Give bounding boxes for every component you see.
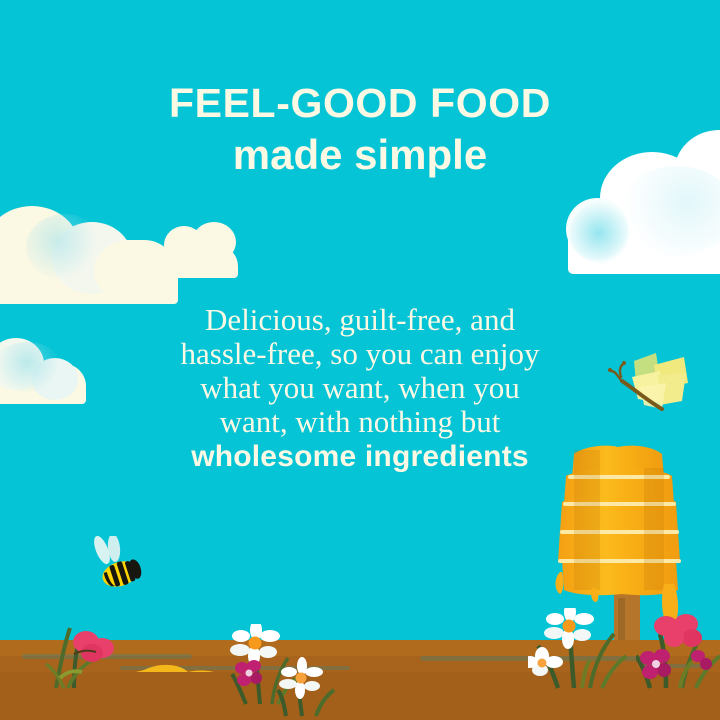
magenta-bud (691, 650, 712, 670)
daisy-mid-right (276, 656, 350, 718)
butterfly-svg (604, 343, 690, 419)
cloud-left-nub (158, 222, 240, 278)
body-copy-block: Delicious, guilt-free, and hassle-free, … (110, 303, 610, 475)
poster-canvas: FEEL-GOOD FOOD made simple Delicious, gu… (0, 0, 720, 720)
bee-icon (88, 536, 150, 594)
bee-svg (88, 536, 150, 594)
headline-line-2: made simple (0, 131, 720, 178)
cloud-puff (94, 240, 166, 302)
daisy-petals (230, 624, 280, 666)
body-line-1: Delicious, guilt-free, and (110, 303, 610, 337)
headline-block: FEEL-GOOD FOOD made simple (0, 82, 720, 178)
beehive-illustration (556, 448, 686, 628)
magenta-flower-right (640, 649, 671, 679)
body-line-5-bold: wholesome ingredients (110, 439, 610, 475)
beehive-svg (552, 444, 692, 634)
body-line-4: want, with nothing but (110, 405, 610, 439)
body-line-3: what you want, when you (110, 371, 610, 405)
butterfly-icon (604, 343, 690, 419)
pink-flower-left (44, 620, 134, 690)
cloud-puff (192, 222, 236, 262)
headline-line-1: FEEL-GOOD FOOD (0, 82, 720, 125)
pink-flower-right (636, 612, 720, 690)
cloud-texture (26, 214, 104, 280)
daisy-by-post (528, 608, 628, 690)
bee-wings (91, 536, 122, 566)
cloud-small-left (0, 336, 94, 404)
body-line-2: hassle-free, so you can enjoy (110, 337, 610, 371)
magenta-flower-mid (235, 660, 262, 686)
